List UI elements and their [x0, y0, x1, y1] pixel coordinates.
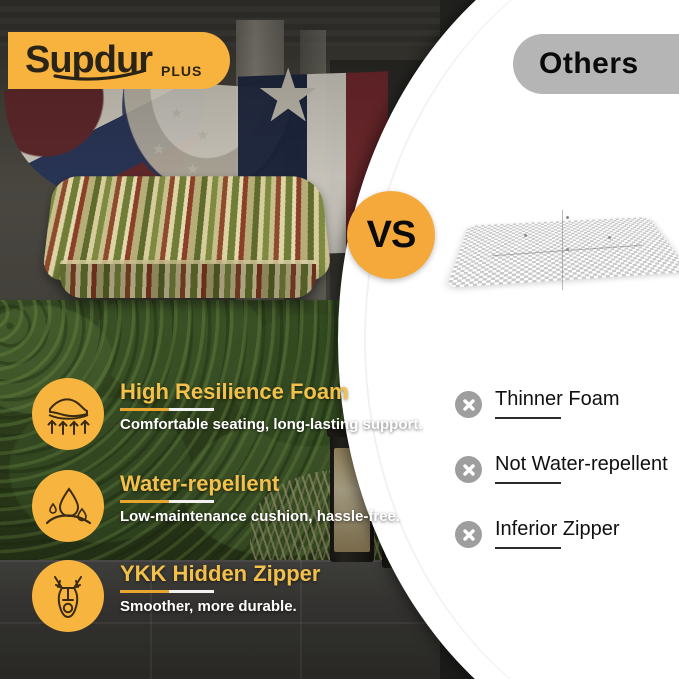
x-circle-icon [455, 391, 482, 418]
product-image-ours [36, 172, 336, 312]
con-row-inferior-zipper: Inferior Zipper [455, 521, 679, 571]
x-circle-icon [455, 521, 482, 548]
product-image-theirs [462, 192, 670, 310]
con-title: Thinner Foam [495, 388, 620, 410]
con-underline [495, 547, 561, 549]
feature-subtitle: Low-maintenance cushion, hassle-free. [120, 508, 420, 525]
feature-underline [120, 500, 214, 503]
feature-title: High Resilience Foam [120, 380, 420, 403]
con-row-thinner-foam: Thinner Foam [455, 391, 679, 441]
hand-pressing-foam-icon [32, 378, 104, 450]
others-header-pill: Others [513, 34, 679, 94]
zipper-pull-icon [32, 560, 104, 632]
con-title: Not Water-repellent [495, 453, 668, 475]
feature-row-ykk-hidden-zipper: YKK Hidden Zipper Smoother, more durable… [32, 560, 378, 632]
brand-logo: Supdur PLUS [8, 32, 230, 89]
con-row-not-water-repellent: Not Water-repellent [455, 456, 679, 506]
feature-subtitle: Smoother, more durable. [120, 598, 420, 615]
feature-row-high-resilience-foam: High Resilience Foam Comfortable seating… [32, 378, 378, 450]
feature-subtitle: Comfortable seating, long-lasting suppor… [120, 416, 420, 433]
con-underline [495, 417, 561, 419]
svg-text:PLUS: PLUS [161, 63, 202, 79]
vs-label: VS [367, 214, 416, 257]
feature-row-water-repellent: Water-repellent Low-maintenance cushion,… [32, 470, 378, 542]
con-underline [495, 482, 561, 484]
x-circle-icon [455, 456, 482, 483]
water-droplet-repel-icon [32, 470, 104, 542]
infographic-canvas: ★ ★ ★ ★ ★ ★ Supdur PLUS Supdur PLUS [0, 0, 679, 679]
feature-underline [120, 590, 214, 593]
con-title: Inferior Zipper [495, 518, 620, 540]
feature-underline [120, 408, 214, 411]
others-label: Others [539, 47, 639, 81]
vs-badge: VS [347, 191, 435, 279]
feature-title: YKK Hidden Zipper [120, 562, 420, 585]
feature-title: Water-repellent [120, 472, 420, 495]
